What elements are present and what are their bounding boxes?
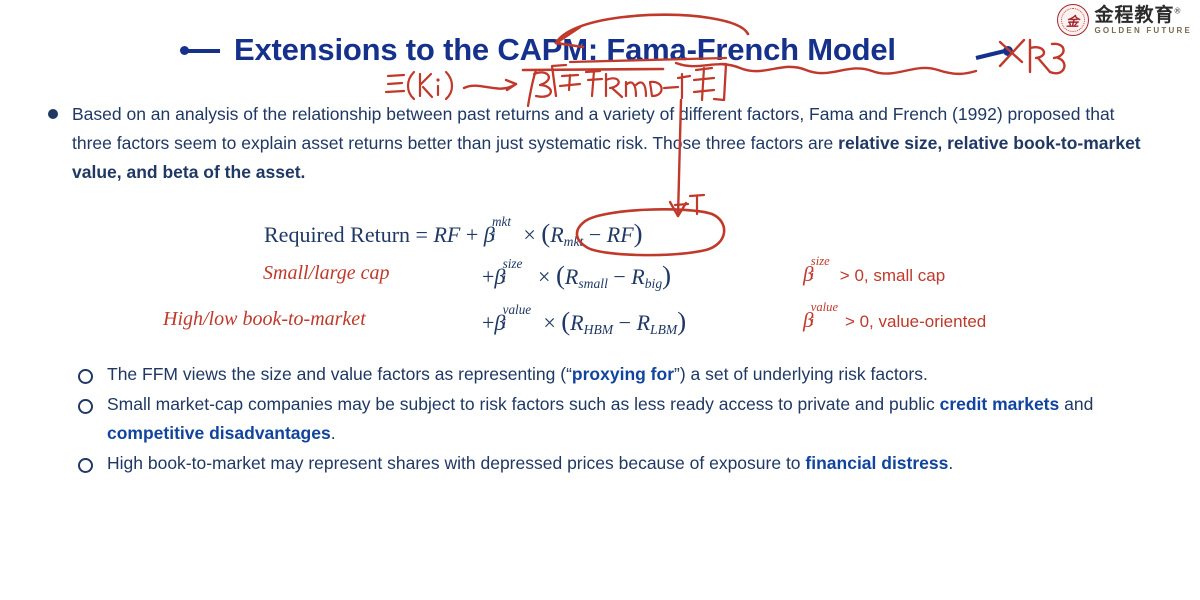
formula-times: × <box>523 222 535 247</box>
ink-bracket-open <box>552 65 566 96</box>
list-item: High book-to-market may represent shares… <box>78 449 1168 478</box>
size-plus: + <box>482 264 494 289</box>
ink-scribble-2 <box>586 71 602 96</box>
ink-close-paren <box>446 72 452 99</box>
intro-line-1: Based on an analysis of the relationship… <box>72 104 888 124</box>
size-r2: R <box>631 264 644 289</box>
formula-value-factor: +βvaluei × (RHBM − RLBM) <box>482 306 686 338</box>
formula-rmkt-sub: mkt <box>564 234 584 249</box>
formula-equals: = <box>416 222 428 247</box>
beta-subscript: i <box>502 270 506 286</box>
label-high-low-book-to-market: High/low book-to-market <box>163 308 366 331</box>
ink-open-paren <box>408 72 414 99</box>
vertical-arrow-head <box>670 202 686 216</box>
seal-glyph: 金 <box>1058 5 1088 35</box>
list-item: The FFM views the size and value factors… <box>78 360 1168 389</box>
li-part-1: The FFM views the size and value factors… <box>107 364 572 384</box>
li-part-2: and <box>1059 394 1093 414</box>
note-value-factor: βvaluei > 0, value-oriented <box>803 308 986 333</box>
list-item-text: The FFM views the size and value factors… <box>107 360 1168 389</box>
list-item-text: Small market-cap companies may be subjec… <box>107 390 1168 448</box>
formula-beta-mkt: βmkti <box>484 222 507 248</box>
dot-dash-bullet-icon <box>180 44 220 56</box>
ink-bracket-close <box>714 64 726 100</box>
intro-paragraph-text: Based on an analysis of the relationship… <box>72 100 1148 187</box>
beta-superscript: value <box>503 302 532 318</box>
formula-rmkt: R <box>550 222 563 247</box>
note-size-factor: βsizei > 0, small cap <box>803 262 945 287</box>
li-part-1: Small market-cap companies may be subjec… <box>107 394 940 414</box>
size-close-paren: ) <box>662 260 671 290</box>
note-value-text: > 0, value-oriented <box>845 312 986 331</box>
hollow-ring-bullet-icon <box>78 399 93 414</box>
note-beta-size: βsizei <box>803 262 825 287</box>
beta-superscript: value <box>811 300 838 315</box>
formula-rf-2: RF <box>607 222 634 247</box>
brand-english-name: GOLDEN FUTURE <box>1095 27 1193 35</box>
size-minus: − <box>613 264 625 289</box>
beta-subscript: i <box>811 268 815 283</box>
arrow-right-icon <box>975 46 1023 62</box>
note-beta-value: βvaluei <box>803 308 828 333</box>
formula-size-factor: +βsizei × (Rsmall − Rbig) <box>482 260 671 292</box>
formula-beta-value: βvaluei <box>494 310 520 336</box>
size-r1-sub: small <box>578 276 608 291</box>
formula-plus: + <box>466 222 478 247</box>
beta-subscript: i <box>502 316 506 332</box>
value-r1: R <box>570 310 583 335</box>
ink-scribble-1 <box>560 75 580 90</box>
value-times: × <box>543 310 555 335</box>
li-bold-1: credit markets <box>940 394 1060 414</box>
brand-chinese-label: 金程教育 <box>1095 5 1175 26</box>
size-r2-sub: big <box>645 276 662 291</box>
hollow-ring-bullet-icon <box>78 369 93 384</box>
brand-seal-icon: 金 <box>1057 4 1089 36</box>
li-part-2: ”) a set of underlying risk factors. <box>674 364 928 384</box>
value-r2-sub: LBM <box>650 322 677 337</box>
brand-chinese-name: 金程教育® <box>1095 6 1182 25</box>
value-plus: + <box>482 310 494 335</box>
value-r1-sub: HBM <box>584 322 614 337</box>
ink-R-glyph <box>420 74 432 97</box>
note-size-text: > 0, small cap <box>840 266 945 285</box>
value-minus: − <box>619 310 631 335</box>
size-r1: R <box>565 264 578 289</box>
ink-m-glyph <box>626 82 646 96</box>
hollow-ring-bullet-icon <box>78 458 93 473</box>
brand-logo: 金 金程教育® GOLDEN FUTURE <box>1057 4 1193 36</box>
size-open-paren: ( <box>556 260 565 290</box>
brand-text: 金程教育® GOLDEN FUTURE <box>1095 6 1193 35</box>
ink-scribble-3 <box>678 74 690 98</box>
formula-lhs: Required Return <box>264 222 410 247</box>
filled-disc-bullet-icon <box>48 109 58 119</box>
label-small-large-cap: Small/large cap <box>263 262 389 285</box>
ink-minus-glyph <box>664 87 678 88</box>
li-part-1: High book-to-market may represent shares… <box>107 453 805 473</box>
beta-subscript: i <box>492 228 496 244</box>
ink-char-stroke-2 <box>1030 40 1050 72</box>
page-title: Extensions to the CAPM: Fama-French Mode… <box>180 32 896 68</box>
li-part-2: . <box>948 453 953 473</box>
ink-D-glyph <box>650 82 662 96</box>
registered-mark: ® <box>1175 6 1182 15</box>
ink-arrow-shaft <box>464 84 516 89</box>
formula-open-paren: ( <box>541 218 550 248</box>
ink-arrow-head <box>506 80 516 90</box>
intro-paragraph: Based on an analysis of the relationship… <box>48 100 1148 187</box>
ink-scribble-4 <box>694 68 714 100</box>
formula-close-paren: ) <box>634 218 643 248</box>
formula-beta-size: βsizei <box>494 264 517 290</box>
ink-char-stroke-3 <box>1050 44 1064 74</box>
intro-line-3-prefix: Those three factors are <box>652 133 838 153</box>
value-r2: R <box>637 310 650 335</box>
list-item-text: High book-to-market may represent shares… <box>107 449 1168 478</box>
ink-R-glyph-2 <box>606 74 622 97</box>
list-item: Small market-cap companies may be subjec… <box>78 390 1168 448</box>
formula-minus: − <box>589 222 601 247</box>
li-part-3: . <box>331 423 336 443</box>
formula-rf: RF <box>433 222 460 247</box>
handwritten-annotation-layer <box>0 0 1200 600</box>
page-title-text: Extensions to the CAPM: Fama-French Mode… <box>234 32 896 68</box>
ink-E-glyph <box>386 75 404 92</box>
li-bold-1: proxying for <box>572 364 674 384</box>
beta-subscript: i <box>811 314 815 329</box>
li-bold-1: financial distress <box>805 453 948 473</box>
size-times: × <box>538 264 550 289</box>
ink-crossbar <box>675 204 688 205</box>
value-open-paren: ( <box>561 306 570 336</box>
value-close-paren: ) <box>677 306 686 336</box>
formula-required-return: Required Return = RF + βmkti × (Rmkt − R… <box>264 218 643 250</box>
li-bold-2: competitive disadvantages <box>107 423 331 443</box>
lower-bullet-list: The FFM views the size and value factors… <box>78 360 1168 479</box>
ink-i-dot <box>436 78 439 81</box>
underline-under-capm <box>523 69 663 70</box>
ink-tick-mark <box>690 195 704 214</box>
